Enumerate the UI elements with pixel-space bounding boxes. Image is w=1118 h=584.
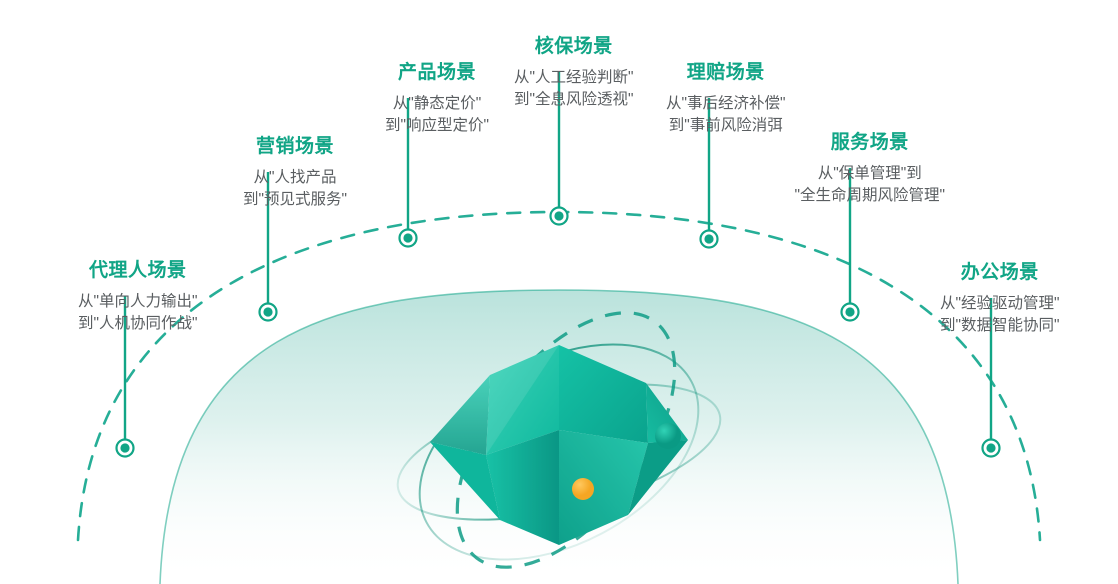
- scenario-label-marketing: 营销场景从"人找产品到"预见式服务": [243, 134, 347, 210]
- scenario-label-service: 服务场景从"保单管理"到"全生命周期风险管理": [795, 130, 946, 206]
- scenario-desc-line: 到"响应型定价": [385, 115, 489, 136]
- scenario-desc-product: 从"静态定价"到"响应型定价": [385, 93, 489, 136]
- scenario-desc-claims: 从"事后经济补偿"到"事前风险消弭: [666, 93, 786, 136]
- scenario-label-product: 产品场景从"静态定价"到"响应型定价": [385, 60, 489, 136]
- scenario-label-claims: 理赔场景从"事后经济补偿"到"事前风险消弭: [666, 60, 786, 136]
- scenario-label-underwriting: 核保场景从"人工经验判断"到"全息风险透视": [514, 34, 634, 110]
- scenario-title-office: 办公场景: [940, 260, 1060, 286]
- scenario-desc-line: 从"静态定价": [385, 93, 489, 114]
- scenario-desc-line: 从"人找产品: [243, 167, 347, 188]
- scenario-desc-line: 到"人机协同作战": [78, 313, 198, 334]
- scenario-desc-marketing: 从"人找产品到"预见式服务": [243, 167, 347, 210]
- scenario-desc-line: 到"全息风险透视": [514, 89, 634, 110]
- scenario-desc-line: "全生命周期风险管理": [795, 185, 946, 206]
- scenario-desc-line: 从"保单管理"到: [795, 163, 946, 184]
- arc-marker-marketing[interactable]: [260, 304, 277, 321]
- scenario-desc-underwriting: 从"人工经验判断"到"全息风险透视": [514, 67, 634, 110]
- arc-marker-product[interactable]: [400, 230, 417, 247]
- scenario-desc-line: 从"单向人力输出": [78, 291, 198, 312]
- arc-marker-claims[interactable]: [701, 231, 718, 248]
- scenario-title-agent: 代理人场景: [78, 258, 198, 284]
- scenario-title-product: 产品场景: [385, 60, 489, 86]
- arc-marker-agent[interactable]: [117, 440, 134, 457]
- scenario-title-service: 服务场景: [795, 130, 946, 156]
- scenario-desc-line: 到"事前风险消弭: [666, 115, 786, 136]
- scenario-desc-line: 从"经验驱动管理": [940, 293, 1060, 314]
- scenario-desc-service: 从"保单管理"到"全生命周期风险管理": [795, 163, 946, 206]
- arc-marker-service[interactable]: [842, 304, 859, 321]
- scenario-desc-line: 从"事后经济补偿": [666, 93, 786, 114]
- scenario-label-office: 办公场景从"经验驱动管理"到"数据智能协同": [940, 260, 1060, 336]
- scenario-desc-line: 到"数据智能协同": [940, 315, 1060, 336]
- scenario-desc-office: 从"经验驱动管理"到"数据智能协同": [940, 293, 1060, 336]
- scenario-desc-agent: 从"单向人力输出"到"人机协同作战": [78, 291, 198, 334]
- scenario-title-marketing: 营销场景: [243, 134, 347, 160]
- scenario-desc-line: 从"人工经验判断": [514, 67, 634, 88]
- orbit-node-teal: [655, 423, 681, 449]
- orbit-node-orange: [572, 478, 594, 500]
- scenario-label-agent: 代理人场景从"单向人力输出"到"人机协同作战": [78, 258, 198, 334]
- infographic-canvas: 代理人场景从"单向人力输出"到"人机协同作战"营销场景从"人找产品到"预见式服务…: [0, 0, 1118, 584]
- arc-marker-office[interactable]: [983, 440, 1000, 457]
- scenario-title-underwriting: 核保场景: [514, 34, 634, 60]
- scenario-title-claims: 理赔场景: [666, 60, 786, 86]
- scenario-desc-line: 到"预见式服务": [243, 189, 347, 210]
- arc-marker-underwriting[interactable]: [551, 208, 568, 225]
